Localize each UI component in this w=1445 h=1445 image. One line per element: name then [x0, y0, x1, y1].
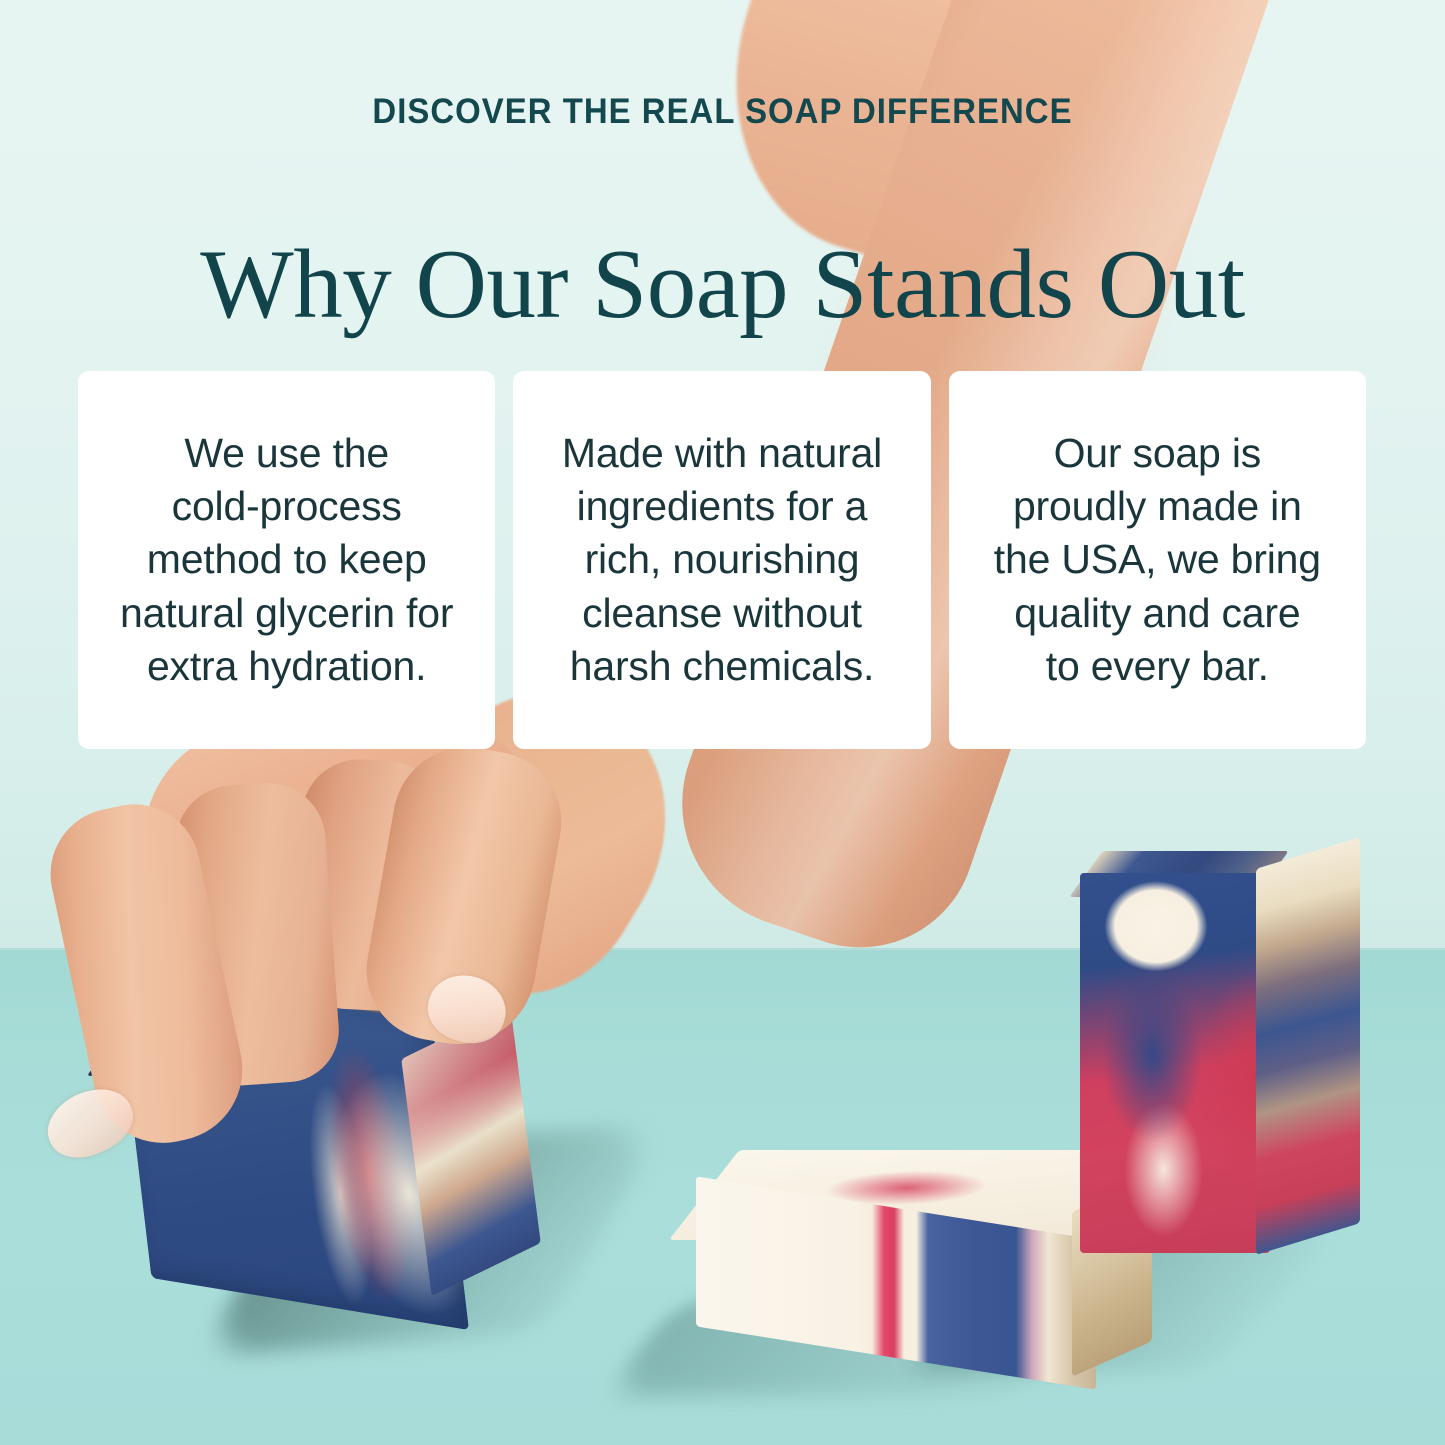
benefit-card-cold-process: We use the cold-process method to keep n… [78, 371, 495, 749]
eyebrow-text: DISCOVER THE REAL SOAP DIFFERENCE [43, 92, 1401, 132]
benefit-card-row: We use the cold-process method to keep n… [78, 371, 1366, 749]
page-title: Why Our Soap Stands Out [0, 233, 1445, 338]
soap-marketing-poster: DISCOVER THE REAL SOAP DIFFERENCE Why Ou… [0, 0, 1445, 1445]
soap-bar-standing-side-face [1256, 837, 1360, 1255]
benefit-card-natural-ingredients: Made with natural ingredients for a rich… [513, 371, 930, 749]
soap-bar-standing [1080, 845, 1380, 1265]
benefit-card-text: Our soap is proudly made in the USA, we … [994, 427, 1321, 693]
benefit-card-text: We use the cold-process method to keep n… [120, 427, 453, 693]
benefit-card-text: Made with natural ingredients for a rich… [562, 427, 882, 693]
soap-bar-standing-front-face [1080, 873, 1270, 1253]
benefit-card-made-in-usa: Our soap is proudly made in the USA, we … [949, 371, 1366, 749]
